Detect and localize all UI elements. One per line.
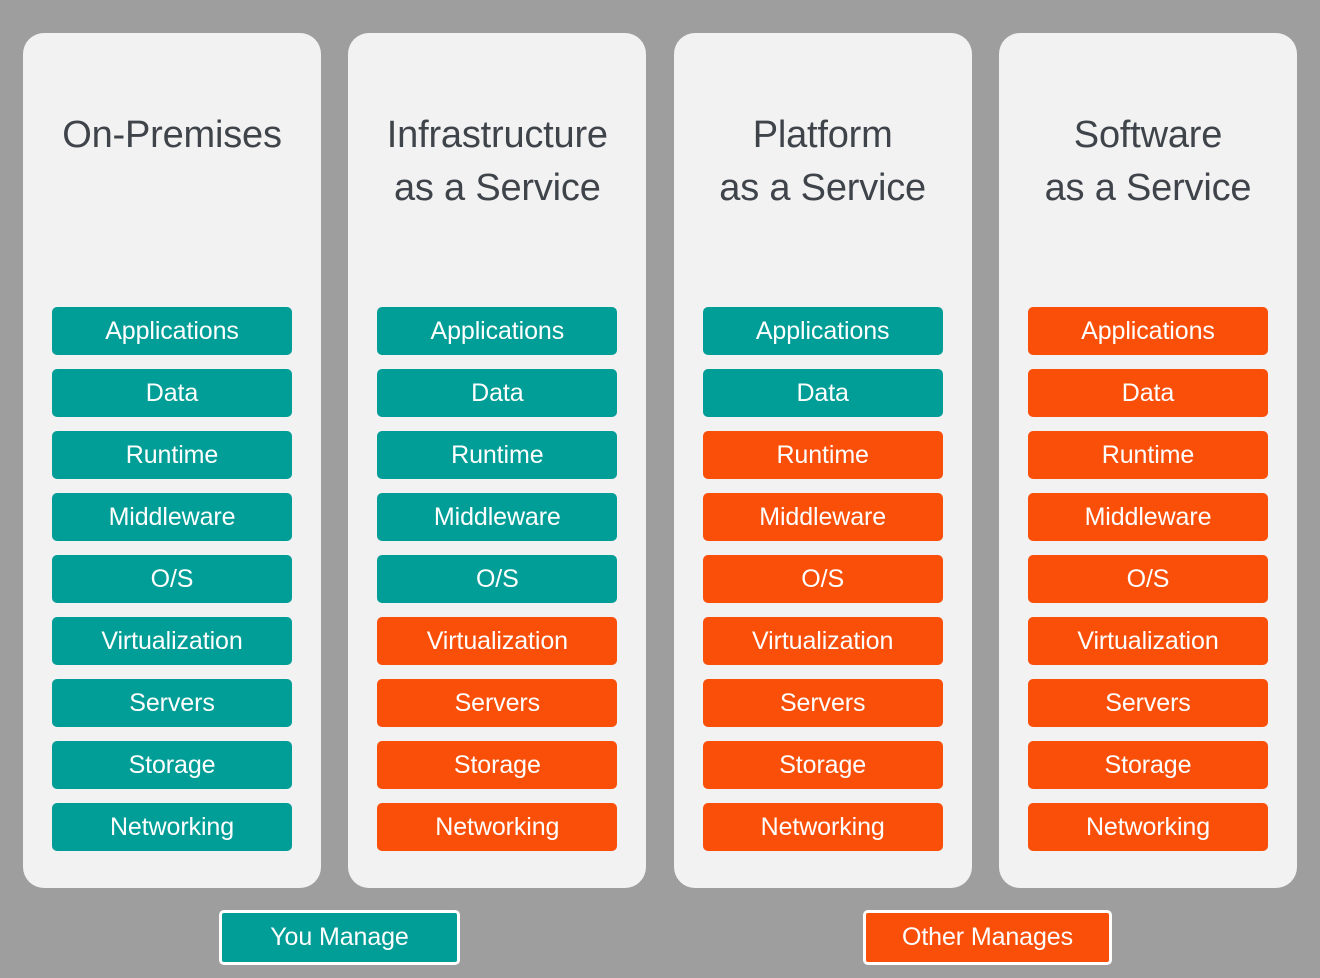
layer-bar: O/S: [377, 555, 617, 603]
layer-bar: Data: [703, 369, 943, 417]
layer-stack: ApplicationsDataRuntimeMiddlewareO/SVirt…: [703, 307, 943, 851]
layer-bar: Networking: [52, 803, 292, 851]
service-model-card: Software as a ServiceApplicationsDataRun…: [999, 33, 1297, 888]
layer-bar: Storage: [1028, 741, 1268, 789]
layer-bar: Data: [377, 369, 617, 417]
layer-bar: Storage: [377, 741, 617, 789]
legend-you-manage: You Manage: [219, 910, 460, 965]
layer-bar: Servers: [703, 679, 943, 727]
layer-bar: Runtime: [52, 431, 292, 479]
layer-bar: Data: [1028, 369, 1268, 417]
layer-bar: Virtualization: [377, 617, 617, 665]
layer-bar: Storage: [703, 741, 943, 789]
layer-bar: Networking: [1028, 803, 1268, 851]
service-model-card: On-PremisesApplicationsDataRuntimeMiddle…: [23, 33, 321, 888]
card-title: Software as a Service: [1013, 109, 1283, 215]
layer-bar: O/S: [703, 555, 943, 603]
layer-bar: Applications: [1028, 307, 1268, 355]
card-title: Platform as a Service: [688, 109, 958, 215]
service-model-columns: On-PremisesApplicationsDataRuntimeMiddle…: [23, 33, 1297, 888]
layer-bar: Servers: [377, 679, 617, 727]
diagram-canvas: On-PremisesApplicationsDataRuntimeMiddle…: [0, 0, 1320, 978]
layer-bar: Networking: [377, 803, 617, 851]
card-title: Infrastructure as a Service: [362, 109, 632, 215]
layer-bar: Storage: [52, 741, 292, 789]
layer-bar: Virtualization: [52, 617, 292, 665]
layer-stack: ApplicationsDataRuntimeMiddlewareO/SVirt…: [52, 307, 292, 851]
layer-bar: O/S: [52, 555, 292, 603]
layer-bar: Applications: [52, 307, 292, 355]
layer-bar: Applications: [703, 307, 943, 355]
layer-bar: Virtualization: [1028, 617, 1268, 665]
legend-other-manages: Other Manages: [863, 910, 1112, 965]
layer-bar: Runtime: [1028, 431, 1268, 479]
layer-bar: O/S: [1028, 555, 1268, 603]
card-title: On-Premises: [37, 109, 307, 162]
layer-bar: Middleware: [703, 493, 943, 541]
layer-bar: Runtime: [377, 431, 617, 479]
service-model-card: Infrastructure as a ServiceApplicationsD…: [348, 33, 646, 888]
layer-bar: Networking: [703, 803, 943, 851]
layer-bar: Data: [52, 369, 292, 417]
layer-bar: Applications: [377, 307, 617, 355]
layer-bar: Servers: [1028, 679, 1268, 727]
layer-bar: Virtualization: [703, 617, 943, 665]
layer-bar: Middleware: [52, 493, 292, 541]
service-model-card: Platform as a ServiceApplicationsDataRun…: [674, 33, 972, 888]
layer-bar: Middleware: [377, 493, 617, 541]
layer-bar: Middleware: [1028, 493, 1268, 541]
layer-bar: Servers: [52, 679, 292, 727]
layer-stack: ApplicationsDataRuntimeMiddlewareO/SVirt…: [1028, 307, 1268, 851]
layer-stack: ApplicationsDataRuntimeMiddlewareO/SVirt…: [377, 307, 617, 851]
layer-bar: Runtime: [703, 431, 943, 479]
